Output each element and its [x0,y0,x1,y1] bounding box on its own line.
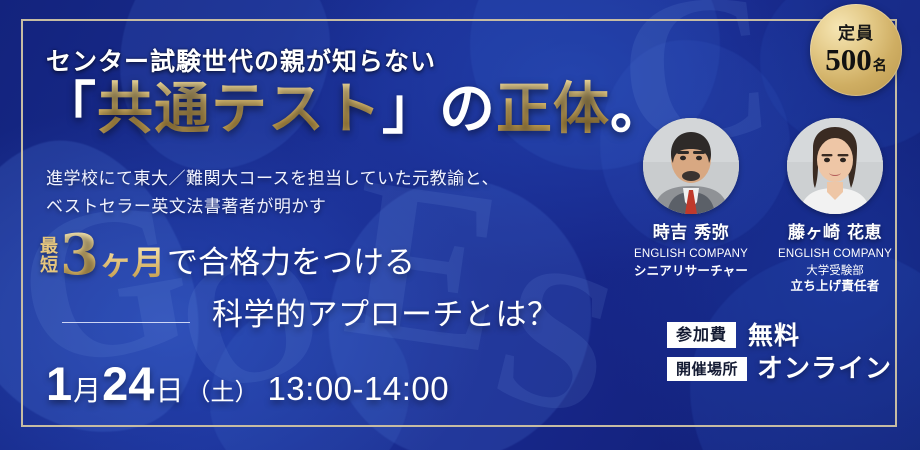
page-title: 「共通テスト」の正体。 [40,78,667,141]
fee-label: 参加費 [667,322,736,348]
divider-line [62,322,190,323]
headline-close-bracket: 」 [382,76,439,142]
speaker-org: ENGLISH COMPANY [774,247,896,263]
info-row-fee: 参加費 無料 [667,322,892,348]
place-label: 開催場所 [667,357,747,382]
capacity-value: 500 名 [825,44,887,75]
lead-paragraph: 進学校にて東大／難関大コースを担当していた元教諭と、 ベストセラー英文法書著者が… [46,166,499,221]
headline-particle: の [439,76,496,142]
speaker-name: 藤ヶ崎 花恵 [774,223,896,243]
event-time-range: 13:00-14:00 [267,372,449,405]
capacity-unit: 名 [873,59,887,73]
speaker-list: 時吉 秀弥 ENGLISH COMPANY シニアリサーチャー [630,118,896,295]
headline-gold-keyword-2: 正体 [496,76,610,142]
speaker-name: 時吉 秀弥 [630,223,752,243]
headline-gold-keyword: 共通テスト [97,76,382,142]
info-row-place: 開催場所 オンライン [667,356,892,382]
banner-content: センター試験世代の親が知らない 「共通テスト」の正体。 進学校にて東大／難関大コ… [0,0,920,450]
event-day-unit: 日 [155,377,183,405]
event-month-unit: 月 [73,377,101,405]
promise-line: 最 短 3 ヶ月 で合格力をつける [40,230,415,282]
lead-line-1: 進学校にて東大／難関大コースを担当していた元教諭と、 [46,166,499,194]
place-value: オンライン [757,356,892,382]
event-weekday: （土） [186,381,258,405]
shortest-label-top: 最 [40,238,58,257]
event-month-number: 1 [46,360,72,407]
avatar [643,118,739,214]
lead-line-2: ベストセラー英文法書著者が明かす [46,194,499,222]
shortest-label-bottom: 短 [40,257,58,276]
avatar [787,118,883,214]
speaker-role: シニアリサーチャー [630,263,752,280]
approach-text: 科学的アプローチとは？ [212,300,559,331]
speaker-dept: 大学受験部 [774,263,896,279]
event-info: 参加費 無料 開催場所 オンライン [667,322,892,390]
capacity-label: 定員 [838,25,874,44]
fee-value: 無料 [748,323,800,348]
promise-number: 3 [60,230,99,282]
promise-month-unit: ヶ月 [99,246,165,279]
event-day-number: 24 [102,360,154,407]
promise-tail-text: で合格力をつける [167,248,415,279]
webinar-banner: G E C S O センター試験世代の親が知らない 「共通テスト」の正体。 進学… [0,0,920,450]
capacity-number: 500 [825,44,872,75]
event-datetime: 1 月 24 日 （土） 13:00-14:00 [46,360,449,407]
shortest-label: 最 短 [40,238,58,276]
speaker-role: 立ち上げ責任者 [774,278,896,295]
capacity-badge: 定員 500 名 [810,4,902,96]
speaker-card: 藤ヶ崎 花恵 ENGLISH COMPANY 大学受験部 立ち上げ責任者 [774,118,896,295]
kicker-text: センター試験世代の親が知らない [46,42,436,78]
headline-open-bracket: 「 [40,76,97,142]
speaker-org: ENGLISH COMPANY [630,247,752,263]
speaker-card: 時吉 秀弥 ENGLISH COMPANY シニアリサーチャー [630,118,752,295]
